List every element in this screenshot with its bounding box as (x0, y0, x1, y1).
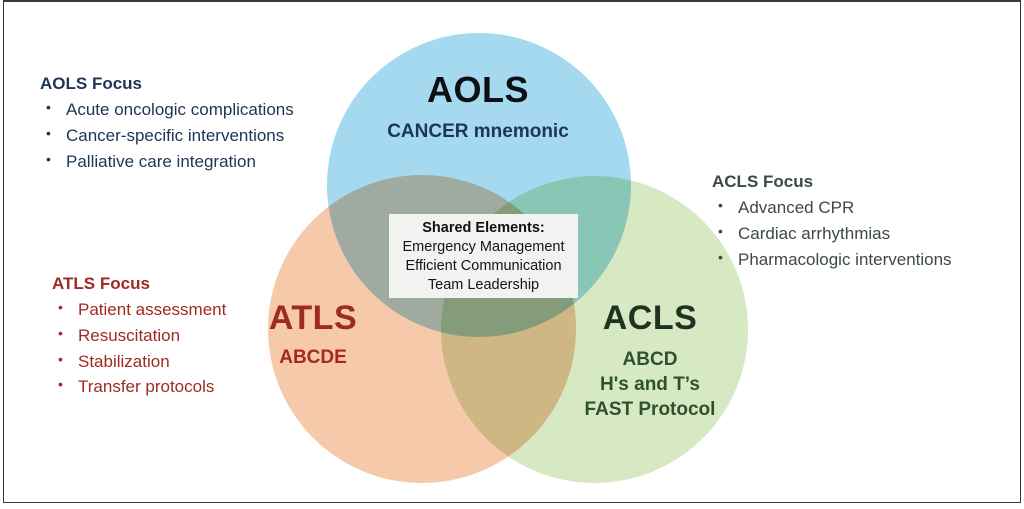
venn-diagram-page: AOLS CANCER mnemonic ATLS ABCDE ACLS ABC… (0, 0, 1024, 509)
shared-elements-item: Team Leadership (389, 276, 578, 295)
venn-label-acls: ACLS ABCD H's and T’s FAST Protocol (552, 298, 748, 422)
focus-list-item-label: Resuscitation (78, 326, 180, 345)
venn-label-acls-subtitle: ABCD H's and T’s FAST Protocol (552, 347, 748, 422)
focus-list-item: • Resuscitation (52, 323, 226, 349)
focus-list-item: • Patient assessment (52, 297, 226, 323)
focus-list-item: • Acute oncologic complications (40, 97, 294, 123)
venn-label-acls-subtitle-line: ABCD (552, 347, 748, 372)
focus-list-item: • Palliative care integration (40, 149, 294, 175)
venn-label-acls-subtitle-line: H's and T’s (552, 372, 748, 397)
venn-label-aols-subtitle: CANCER mnemonic (368, 121, 588, 143)
focus-list-item: • Stabilization (52, 349, 226, 375)
focus-list-item-label: Pharmacologic interventions (738, 250, 952, 269)
venn-label-aols: AOLS CANCER mnemonic (368, 69, 588, 144)
bullet-icon: • (46, 123, 51, 144)
focus-block-atls: ATLS Focus • Patient assessment • Resusc… (52, 274, 226, 400)
shared-elements-item: Efficient Communication (389, 257, 578, 276)
bullet-icon: • (718, 195, 723, 216)
bullet-icon: • (718, 247, 723, 268)
shared-elements-item: Emergency Management (389, 238, 578, 257)
focus-list-acls: • Advanced CPR • Cardiac arrhythmias • P… (712, 195, 952, 272)
shared-elements-box: Shared Elements: Emergency Management Ef… (389, 214, 578, 298)
bullet-icon: • (46, 149, 51, 170)
focus-heading-aols: AOLS Focus (40, 74, 294, 94)
venn-label-atls-subtitle: ABCDE (228, 347, 398, 369)
shared-elements-title: Shared Elements: (389, 219, 578, 238)
focus-list-item-label: Cardiac arrhythmias (738, 224, 890, 243)
focus-list-item: • Cancer-specific interventions (40, 123, 294, 149)
venn-label-atls-title: ATLS (228, 298, 398, 338)
focus-list-item-label: Cancer-specific interventions (66, 126, 284, 145)
venn-label-aols-title: AOLS (368, 69, 588, 111)
focus-heading-atls: ATLS Focus (52, 274, 226, 294)
focus-list-item-label: Advanced CPR (738, 198, 854, 217)
bullet-icon: • (718, 221, 723, 242)
focus-list-item: • Cardiac arrhythmias (712, 221, 952, 247)
venn-label-acls-title: ACLS (552, 298, 748, 338)
focus-list-atls: • Patient assessment • Resuscitation • S… (52, 297, 226, 400)
focus-block-aols: AOLS Focus • Acute oncologic complicatio… (40, 74, 294, 174)
venn-label-acls-subtitle-line: FAST Protocol (552, 397, 748, 422)
focus-list-item-label: Transfer protocols (78, 377, 214, 396)
focus-list-item-label: Stabilization (78, 352, 170, 371)
focus-list-item-label: Acute oncologic complications (66, 100, 294, 119)
bullet-icon: • (46, 97, 51, 118)
venn-label-atls: ATLS ABCDE (228, 298, 398, 370)
focus-list-aols: • Acute oncologic complications • Cancer… (40, 97, 294, 174)
bullet-icon: • (58, 323, 63, 344)
focus-heading-acls: ACLS Focus (712, 172, 952, 192)
bullet-icon: • (58, 374, 63, 395)
focus-block-acls: ACLS Focus • Advanced CPR • Cardiac arrh… (712, 172, 952, 272)
focus-list-item-label: Patient assessment (78, 300, 226, 319)
bullet-icon: • (58, 297, 63, 318)
bullet-icon: • (58, 349, 63, 370)
focus-list-item: • Advanced CPR (712, 195, 952, 221)
focus-list-item: • Pharmacologic interventions (712, 247, 952, 273)
focus-list-item-label: Palliative care integration (66, 152, 256, 171)
focus-list-item: • Transfer protocols (52, 374, 226, 400)
